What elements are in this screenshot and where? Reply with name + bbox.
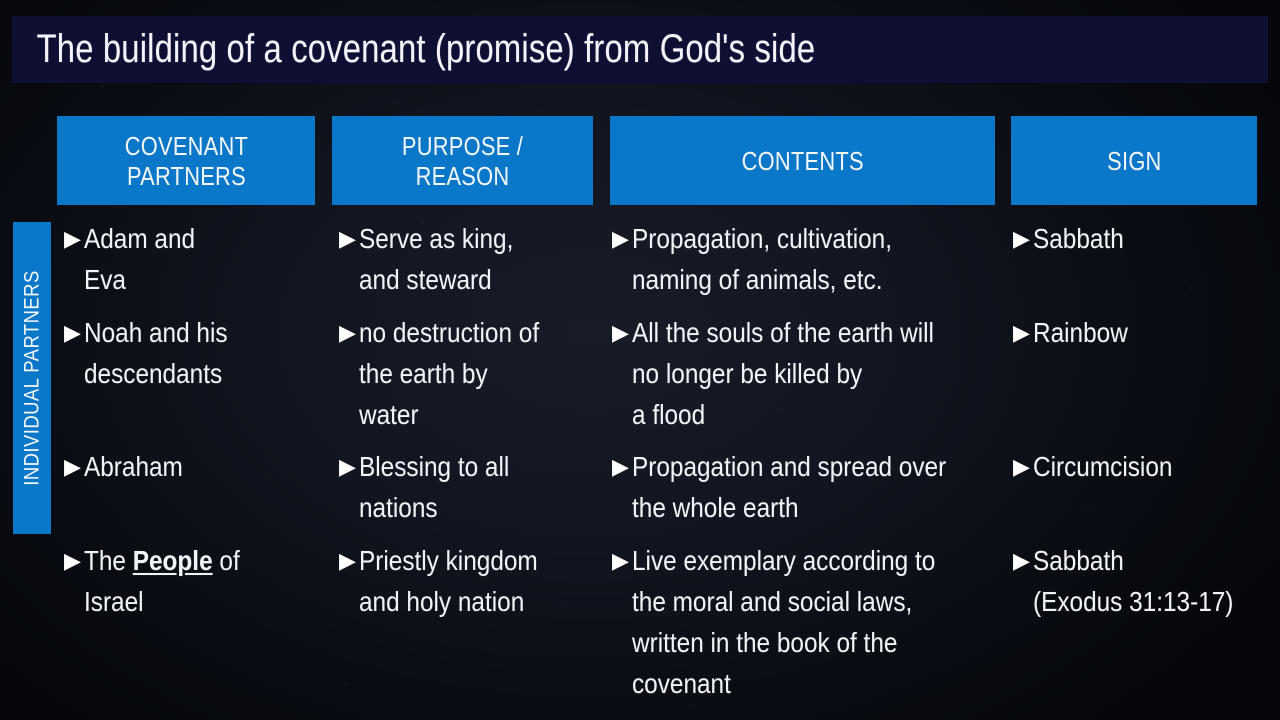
list-item-text: Adam and Eva — [84, 218, 295, 300]
list-item: ▶ Sabbath (Exodus 31:13-17) — [1013, 540, 1275, 622]
triangle-bullet-icon: ▶ — [64, 218, 83, 259]
text-prefix: The — [84, 545, 133, 576]
list-item: ▶ Serve as king, and steward — [339, 218, 589, 300]
list-item: ▶ Blessing to all nations — [339, 446, 589, 528]
triangle-bullet-icon: ▶ — [1013, 540, 1032, 581]
list-item: ▶ Live exemplary according to the moral … — [612, 540, 1004, 704]
column-header-sign: SIGN — [1011, 116, 1257, 205]
list-item: ▶ no destruction of the earth by water — [339, 312, 589, 435]
page-title: The building of a covenant (promise) fro… — [12, 27, 815, 72]
list-item-text: Sabbath (Exodus 31:13-17) — [1033, 540, 1244, 622]
triangle-bullet-icon: ▶ — [612, 446, 631, 487]
list-item-text: Noah and his descendants — [84, 312, 295, 394]
list-item: ▶ Circumcision — [1013, 446, 1275, 487]
list-item: ▶ Rainbow — [1013, 312, 1275, 353]
triangle-bullet-icon: ▶ — [64, 540, 83, 581]
list-item-text: Blessing to all nations — [359, 446, 559, 528]
triangle-bullet-icon: ▶ — [64, 312, 83, 353]
list-item: ▶ The People of Israel — [64, 540, 326, 622]
emphasis-people: People — [133, 545, 213, 576]
column-header-purpose-reason: PURPOSE / REASON — [332, 116, 593, 205]
column-header-contents-label: CONTENTS — [741, 146, 863, 176]
list-item-text: Circumcision — [1033, 446, 1244, 487]
list-item-text-people-of-israel: The People of Israel — [84, 540, 295, 622]
triangle-bullet-icon: ▶ — [339, 218, 358, 259]
triangle-bullet-icon: ▶ — [612, 540, 631, 581]
list-item-text: Propagation, cultivation, naming of anim… — [632, 218, 956, 300]
list-item: ▶ Propagation, cultivation, naming of an… — [612, 218, 1004, 300]
list-item: ▶ Priestly kingdom and holy nation — [339, 540, 589, 622]
column-header-covenant-partners: COVENANT PARTNERS — [57, 116, 315, 205]
list-item: ▶ Adam and Eva — [64, 218, 326, 300]
column-header-purpose-reason-label: PURPOSE / REASON — [353, 131, 572, 191]
list-item: ▶ Noah and his descendants — [64, 312, 326, 394]
slide-canvas: The building of a covenant (promise) fro… — [0, 0, 1280, 720]
list-item: ▶ Propagation and spread over the whole … — [612, 446, 1004, 528]
triangle-bullet-icon: ▶ — [64, 446, 83, 487]
list-item-text: Rainbow — [1033, 312, 1244, 353]
column-header-sign-label: SIGN — [1107, 146, 1161, 176]
title-banner: The building of a covenant (promise) fro… — [12, 16, 1268, 83]
triangle-bullet-icon: ▶ — [1013, 312, 1032, 353]
list-item-text: Abraham — [84, 446, 295, 487]
column-header-contents: CONTENTS — [610, 116, 995, 205]
list-item-text: no destruction of the earth by water — [359, 312, 559, 435]
list-item-text: All the souls of the earth will no longe… — [632, 312, 956, 435]
triangle-bullet-icon: ▶ — [612, 218, 631, 259]
list-item-text: Sabbath — [1033, 218, 1244, 259]
list-item: ▶ Abraham — [64, 446, 326, 487]
triangle-bullet-icon: ▶ — [339, 540, 358, 581]
list-item-text: Propagation and spread over the whole ea… — [632, 446, 956, 528]
list-item-text: Live exemplary according to the moral an… — [632, 540, 956, 704]
side-band-label: INDIVIDUAL PARTNERS — [20, 270, 44, 485]
list-item-text: Priestly kingdom and holy nation — [359, 540, 559, 622]
triangle-bullet-icon: ▶ — [339, 312, 358, 353]
triangle-bullet-icon: ▶ — [612, 312, 631, 353]
list-item-text: Serve as king, and steward — [359, 218, 559, 300]
list-item: ▶ All the souls of the earth will no lon… — [612, 312, 1004, 435]
triangle-bullet-icon: ▶ — [1013, 446, 1032, 487]
list-item: ▶ Sabbath — [1013, 218, 1275, 259]
side-band-individual-partners: INDIVIDUAL PARTNERS — [13, 222, 51, 534]
triangle-bullet-icon: ▶ — [339, 446, 358, 487]
column-header-covenant-partners-label: COVENANT PARTNERS — [124, 131, 247, 191]
triangle-bullet-icon: ▶ — [1013, 218, 1032, 259]
